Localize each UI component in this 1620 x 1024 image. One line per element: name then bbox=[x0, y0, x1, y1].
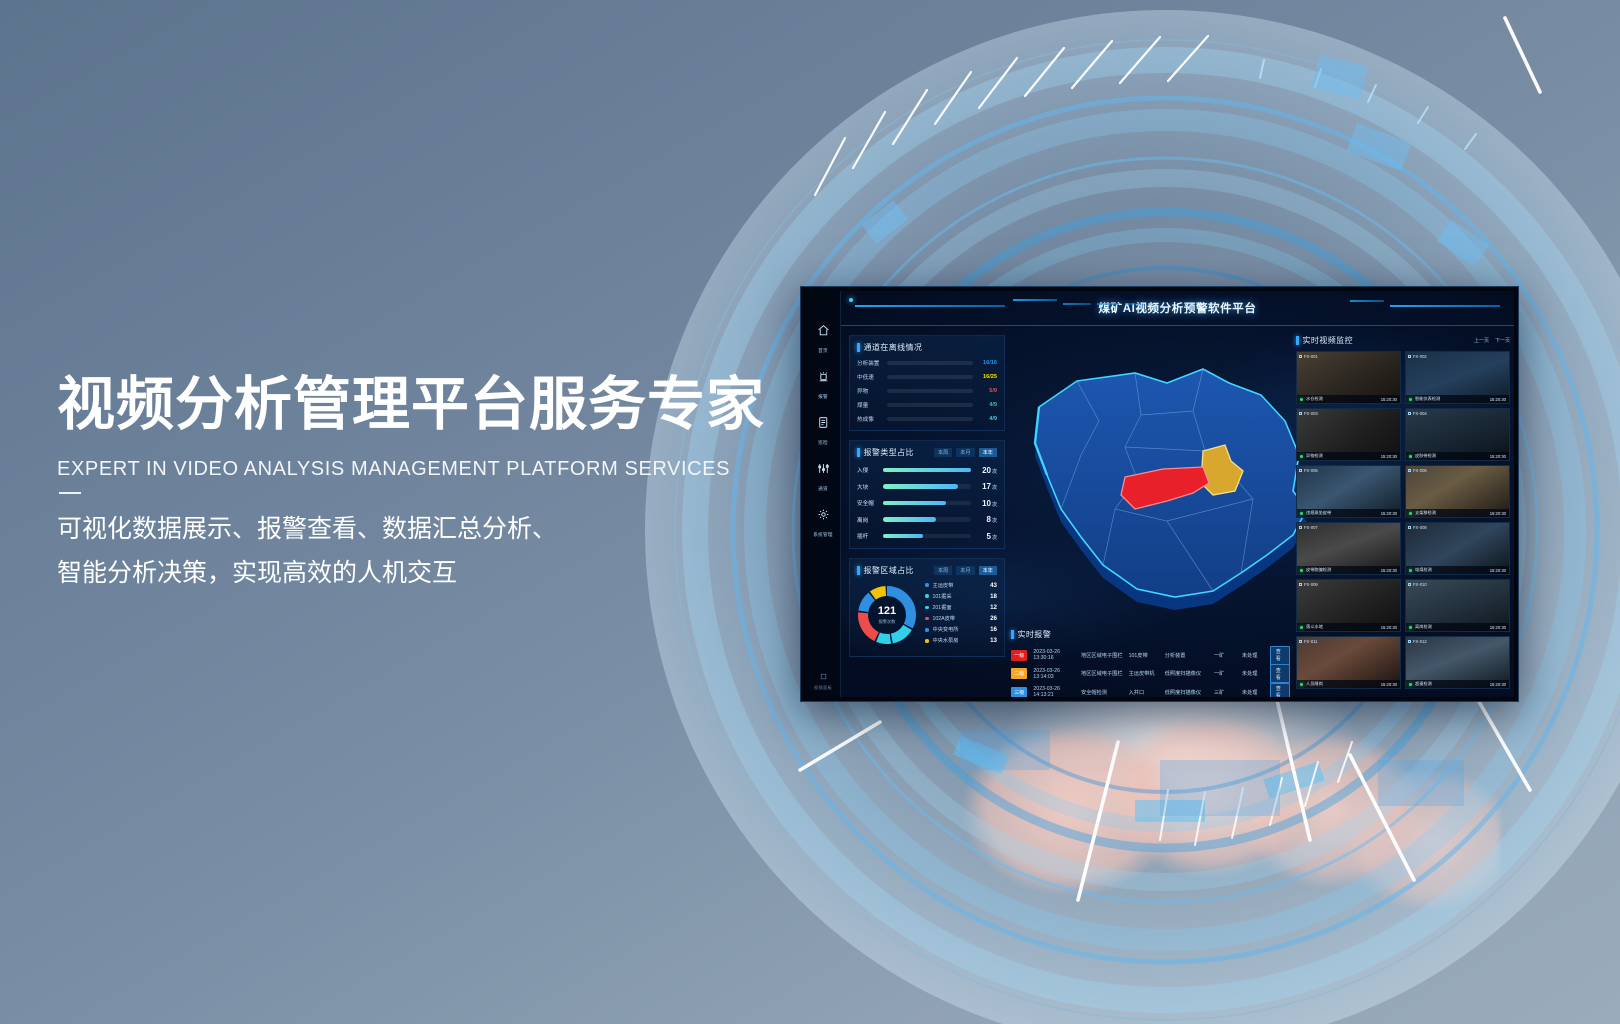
camera-icon bbox=[1408, 583, 1411, 586]
view-button[interactable]: 查看 bbox=[1270, 683, 1290, 697]
channel-bar-track bbox=[887, 417, 973, 422]
video-id: FX-008 bbox=[1408, 525, 1427, 530]
alarm-type-tabs[interactable]: 本周本月本年 bbox=[934, 448, 997, 457]
alarm-type-row: 大块 17次 bbox=[857, 482, 997, 491]
realtime-alarm-panel: 实时报警 一级 2023-03-26 13:30:16 地区区域电子围栏 101… bbox=[1011, 629, 1290, 691]
video-footer: 超速检测 15:20:30 bbox=[1406, 680, 1509, 688]
video-footer: 人员睡岗 15:20:30 bbox=[1297, 680, 1400, 688]
video-id: FX-007 bbox=[1299, 525, 1318, 530]
alarm-device: 分析装置 bbox=[1165, 652, 1214, 659]
alarm-type-track bbox=[883, 501, 971, 506]
channel-row: 热成像 4/9 bbox=[857, 415, 997, 423]
video-id: FX-012 bbox=[1408, 639, 1427, 644]
tab-本月[interactable]: 本月 bbox=[956, 566, 974, 575]
online-indicator bbox=[1409, 398, 1412, 401]
legend-dot bbox=[925, 583, 929, 587]
alarm-type-unit: 次 bbox=[992, 485, 997, 491]
header-line-left-4 bbox=[1097, 303, 1119, 305]
legend-label: 中央水泵房 bbox=[933, 637, 991, 644]
channel-bar-track bbox=[887, 375, 973, 380]
hero-line-2: 智能分析决策，实现高效的人机交互 bbox=[57, 551, 857, 596]
video-time: 15:20:30 bbox=[1490, 625, 1506, 630]
video-panel-title: 实时视频监控 bbox=[1303, 335, 1353, 346]
video-pagination: 上一页 下一页 bbox=[1474, 337, 1510, 344]
donut-caption: 报警次数 bbox=[879, 619, 896, 625]
title-accent-bar bbox=[857, 343, 860, 352]
legend-value: 12 bbox=[990, 604, 997, 611]
online-indicator bbox=[1409, 569, 1412, 572]
video-tile[interactable]: FX-009 落斗水堵 15:20:30 bbox=[1296, 579, 1401, 632]
online-indicator bbox=[1409, 683, 1412, 686]
video-id: FX-005 bbox=[1299, 468, 1318, 473]
hero-line-1: 可视化数据展示、报警查看、数据汇总分析、 bbox=[57, 507, 857, 552]
hero-subtitle: EXPERT IN VIDEO ANALYSIS MANAGEMENT PLAT… bbox=[57, 458, 857, 481]
alarm-type-track bbox=[883, 534, 971, 539]
video-time: 15:20:30 bbox=[1381, 625, 1397, 630]
video-id: FX-006 bbox=[1408, 468, 1427, 473]
alarm-type-row: 插杆 5次 bbox=[857, 532, 997, 541]
alarm-type-fill bbox=[883, 468, 971, 473]
legend-value: 16 bbox=[990, 626, 997, 633]
video-footer: 异物检测 15:20:30 bbox=[1297, 452, 1400, 460]
donut-total: 121 bbox=[878, 606, 896, 617]
tab-本年[interactable]: 本年 bbox=[979, 566, 997, 575]
inspection-icon bbox=[817, 416, 830, 429]
video-id: FX-010 bbox=[1408, 582, 1427, 587]
channel-row: 煤量 4/9 bbox=[857, 401, 997, 409]
video-monitor-panel: 实时视频监控 上一页 下一页 FX-001 水仓检测 15:20:30 FX-0… bbox=[1296, 335, 1510, 691]
channel-label: 分析装置 bbox=[857, 359, 887, 367]
video-tile[interactable]: FX-007 皮带跑偏检测 15:20:30 bbox=[1296, 522, 1401, 575]
alarm-time: 2023-03-26 14:13:21 bbox=[1033, 686, 1081, 697]
header-dot bbox=[849, 298, 853, 302]
alarm-type-row: 安全帽 10次 bbox=[857, 499, 997, 508]
video-footer: 落斗水堵 15:20:30 bbox=[1297, 623, 1400, 631]
sidebar-item-system[interactable]: 系统管理 bbox=[805, 501, 841, 547]
sidebar-item-alarm[interactable]: 报警 bbox=[805, 363, 841, 409]
gear-icon bbox=[817, 508, 830, 521]
realtime-alarm-title: 实时报警 bbox=[1018, 629, 1052, 640]
channel-value: 5/9 bbox=[973, 388, 997, 394]
dashboard-screen: 首页 报警 巡检 通道 系统管理 权限面板 煤矿AI视 bbox=[805, 291, 1514, 697]
channel-value: 4/9 bbox=[973, 416, 997, 422]
alarm-type-row: 离岗 8次 bbox=[857, 515, 997, 524]
alarm-type-title-row: 报警类型占比 本周本月本年 bbox=[857, 447, 997, 458]
camera-icon bbox=[1299, 640, 1302, 643]
alarm-type-track bbox=[883, 484, 971, 489]
realtime-alarm-rows: 一级 2023-03-26 13:30:16 地区区域电子围栏 101皮带 分析… bbox=[1011, 646, 1290, 697]
home-icon bbox=[817, 324, 830, 337]
alarm-type-card: 报警类型占比 本周本月本年 入侵 20次 大块 17次 安全帽 10次 离岗 8… bbox=[849, 440, 1005, 549]
video-tile[interactable]: FX-003 异物检测 15:20:30 bbox=[1296, 408, 1401, 461]
donut-center: 121 报警次数 bbox=[869, 597, 905, 633]
donut-wrapper: 121 报警次数 主运皮带 43 101掘采 18 201掘面 12 102A皮… bbox=[857, 582, 997, 649]
video-name: 水仓检测 bbox=[1306, 396, 1323, 402]
legend-row: 中央水泵房 13 bbox=[925, 637, 997, 644]
channel-label: 煤量 bbox=[857, 401, 887, 409]
prev-page-button[interactable]: 上一页 bbox=[1474, 337, 1489, 344]
legend-dot bbox=[925, 606, 929, 610]
video-name: 超速检测 bbox=[1415, 681, 1432, 687]
sidebar-label-home: 首页 bbox=[818, 348, 828, 353]
video-footer: 堆煤检测 15:20:30 bbox=[1406, 566, 1509, 574]
video-footer: 支架移检测 15:20:30 bbox=[1406, 509, 1509, 517]
alarm-type-track bbox=[883, 468, 971, 473]
legend-dot bbox=[925, 628, 929, 632]
alarm-type-fill bbox=[883, 534, 923, 539]
channel-bar-track bbox=[887, 361, 973, 366]
alarm-type: 地区区域电子围栏 bbox=[1081, 670, 1129, 677]
camera-icon bbox=[1299, 526, 1302, 529]
alarm-type-label: 安全帽 bbox=[857, 499, 883, 507]
video-tile[interactable]: FX-011 人员睡岗 15:20:30 bbox=[1296, 636, 1401, 689]
video-id: FX-001 bbox=[1299, 354, 1318, 359]
online-indicator bbox=[1300, 455, 1303, 458]
donut-legend: 主运皮带 43 101掘采 18 201掘面 12 102A皮带 26 中央变电… bbox=[917, 582, 997, 649]
online-indicator bbox=[1409, 512, 1412, 515]
channel-value: 16/16 bbox=[973, 360, 997, 366]
video-footer: 违规乘坐皮带 15:20:30 bbox=[1297, 509, 1400, 517]
legend-dot bbox=[925, 617, 929, 621]
channel-label: 中低速 bbox=[857, 373, 887, 381]
video-tile[interactable]: FX-002 智能仪表检测 15:20:30 bbox=[1405, 351, 1510, 404]
next-page-button[interactable]: 下一页 bbox=[1495, 337, 1510, 344]
alarm-type-label: 入侵 bbox=[857, 466, 883, 474]
alarm-area-title: 报警区域占比 bbox=[864, 565, 914, 576]
alarm-location: 101皮带 bbox=[1129, 652, 1165, 659]
alarm-type-value: 20次 bbox=[971, 466, 997, 475]
panel-icon bbox=[820, 673, 827, 680]
alarm-device: 低照度扫描像仪 bbox=[1165, 689, 1214, 696]
legend-label: 102A皮带 bbox=[933, 615, 991, 622]
sidebar-footer-label: 权限面板 bbox=[805, 685, 841, 691]
alarm-time: 2023-03-26 13:30:16 bbox=[1033, 649, 1081, 661]
video-footer: 离岗检测 15:20:30 bbox=[1406, 623, 1509, 631]
hero-title: 视频分析管理平台服务专家 bbox=[57, 372, 857, 439]
alarm-type-unit: 次 bbox=[992, 518, 997, 524]
sidebar-label-alarm: 报警 bbox=[818, 394, 828, 399]
channel-label: 热成像 bbox=[857, 415, 887, 423]
alarm-area-donut: 121 报警次数 bbox=[857, 585, 917, 645]
alarm-area-tabs[interactable]: 本周本月本年 bbox=[934, 566, 997, 575]
title-accent-bar bbox=[1296, 336, 1299, 345]
alarm-type-unit: 次 bbox=[992, 502, 997, 508]
alarm-type-row: 入侵 20次 bbox=[857, 466, 997, 475]
video-id: FX-011 bbox=[1299, 639, 1317, 644]
camera-icon bbox=[1299, 469, 1302, 472]
online-indicator bbox=[1300, 398, 1303, 401]
video-footer: 智能仪表检测 15:20:30 bbox=[1406, 395, 1509, 403]
header-line-left-5 bbox=[1125, 303, 1141, 305]
tab-本周[interactable]: 本周 bbox=[934, 566, 952, 575]
legend-label: 主运皮带 bbox=[933, 582, 991, 589]
alarm-type-label: 离岗 bbox=[857, 516, 883, 524]
legend-dot bbox=[925, 639, 929, 643]
alarm-mine: 一矿 bbox=[1214, 670, 1242, 677]
online-indicator bbox=[1409, 455, 1412, 458]
alarm-type-rows: 入侵 20次 大块 17次 安全帽 10次 离岗 8次 插杆 5次 bbox=[857, 466, 997, 541]
video-time: 15:20:30 bbox=[1381, 511, 1397, 516]
alarm-type-unit: 次 bbox=[992, 469, 997, 475]
video-time: 15:20:30 bbox=[1381, 682, 1397, 687]
video-time: 15:20:30 bbox=[1381, 397, 1397, 402]
sidebar-label-inspection: 巡检 bbox=[818, 440, 828, 445]
video-name: 异物检测 bbox=[1306, 453, 1323, 459]
video-tile[interactable]: FX-012 超速检测 15:20:30 bbox=[1405, 636, 1510, 689]
alarm-type-value: 5次 bbox=[971, 532, 997, 541]
legend-label: 201掘面 bbox=[933, 604, 991, 611]
channel-label: 异物 bbox=[857, 387, 887, 395]
video-id: FX-009 bbox=[1299, 582, 1318, 587]
status-badge: 三级 bbox=[1011, 687, 1027, 697]
alarm-type-title: 报警类型占比 bbox=[864, 447, 914, 458]
video-time: 15:20:30 bbox=[1381, 568, 1397, 573]
view-button[interactable]: 查看 bbox=[1270, 646, 1290, 665]
tab-本月[interactable]: 本月 bbox=[956, 448, 974, 457]
channel-icon bbox=[817, 462, 830, 475]
legend-value: 43 bbox=[990, 582, 997, 589]
channel-value: 4/9 bbox=[973, 402, 997, 408]
legend-row: 101掘采 18 bbox=[925, 593, 997, 600]
title-accent-bar bbox=[1011, 630, 1014, 639]
alarm-status: 未处理 bbox=[1242, 689, 1270, 696]
video-name: 堆煤检测 bbox=[1415, 567, 1432, 573]
video-tile[interactable]: FX-001 水仓检测 15:20:30 bbox=[1296, 351, 1401, 404]
channel-status-title: 通道在离线情况 bbox=[864, 342, 923, 353]
sidebar-footer[interactable]: 权限面板 bbox=[805, 667, 841, 691]
video-name: 落斗水堵 bbox=[1306, 624, 1323, 630]
video-name: 离岗检测 bbox=[1415, 624, 1432, 630]
alarm-type-fill bbox=[883, 501, 946, 506]
video-footer: 皮肤带检测 15:20:30 bbox=[1406, 452, 1509, 460]
title-accent-bar bbox=[857, 566, 860, 575]
video-name: 违规乘坐皮带 bbox=[1306, 510, 1331, 516]
online-indicator bbox=[1409, 626, 1412, 629]
alarm-location: 主运皮带机 bbox=[1129, 670, 1165, 677]
legend-label: 中央变电所 bbox=[933, 626, 991, 633]
alarm-type-value: 10次 bbox=[971, 499, 997, 508]
alarm-type: 安全帽检测 bbox=[1081, 689, 1129, 696]
legend-value: 13 bbox=[990, 637, 997, 644]
header-line-left bbox=[855, 305, 1005, 307]
alarm-location: 入井口 bbox=[1129, 689, 1165, 696]
video-grid: FX-001 水仓检测 15:20:30 FX-002 智能仪表检测 15:20… bbox=[1296, 351, 1510, 689]
legend-row: 201掘面 12 bbox=[925, 604, 997, 611]
video-time: 15:20:30 bbox=[1490, 511, 1506, 516]
video-name: 人员睡岗 bbox=[1306, 681, 1323, 687]
video-time: 15:20:30 bbox=[1490, 568, 1506, 573]
alarm-time: 2023-03-26 13:14:03 bbox=[1033, 668, 1081, 680]
table-row[interactable]: 二级 2023-03-26 13:14:03 地区区域电子围栏 主运皮带机 低照… bbox=[1011, 665, 1290, 684]
status-badge: 二级 bbox=[1011, 668, 1027, 679]
video-name: 皮肤带检测 bbox=[1415, 453, 1436, 459]
header-line-right bbox=[1390, 305, 1500, 307]
camera-icon bbox=[1299, 412, 1302, 415]
dashboard-sidebar: 首页 报警 巡检 通道 系统管理 权限面板 bbox=[805, 291, 841, 697]
header-line-right-2 bbox=[1350, 300, 1384, 302]
alarm-type-fill bbox=[883, 484, 958, 489]
alarm-device: 低照度扫描像仪 bbox=[1165, 670, 1214, 677]
channel-bar-track bbox=[887, 389, 973, 394]
alarm-status: 未处理 bbox=[1242, 652, 1270, 659]
alarm-type-unit: 次 bbox=[992, 535, 997, 541]
alarm-icon bbox=[817, 370, 830, 383]
video-time: 15:20:30 bbox=[1490, 397, 1506, 402]
legend-value: 26 bbox=[990, 615, 997, 622]
online-indicator bbox=[1300, 683, 1303, 686]
channel-status-title-row: 通道在离线情况 bbox=[857, 342, 997, 353]
view-button[interactable]: 查看 bbox=[1270, 664, 1290, 683]
camera-icon bbox=[1299, 355, 1302, 358]
online-indicator bbox=[1300, 569, 1303, 572]
table-row[interactable]: 一级 2023-03-26 13:30:16 地区区域电子围栏 101皮带 分析… bbox=[1011, 646, 1290, 665]
dashboard-monitor: 首页 报警 巡检 通道 系统管理 权限面板 煤矿AI视 bbox=[800, 286, 1519, 702]
alarm-status: 未处理 bbox=[1242, 670, 1270, 677]
video-tile[interactable]: FX-008 堆煤检测 15:20:30 bbox=[1405, 522, 1510, 575]
camera-icon bbox=[1408, 412, 1411, 415]
header-underline bbox=[841, 313, 1514, 326]
sidebar-item-inspection[interactable]: 巡检 bbox=[805, 409, 841, 455]
video-footer: 皮带跑偏检测 15:20:30 bbox=[1297, 566, 1400, 574]
alarm-area-title-row: 报警区域占比 本周本月本年 bbox=[857, 565, 997, 576]
legend-row: 主运皮带 43 bbox=[925, 582, 997, 589]
sidebar-label-channel: 通道 bbox=[818, 486, 828, 491]
hero-text-block: 视频分析管理平台服务专家 EXPERT IN VIDEO ANALYSIS MA… bbox=[57, 372, 857, 596]
camera-icon bbox=[1408, 526, 1411, 529]
video-id: FX-004 bbox=[1408, 411, 1427, 416]
sidebar-nav: 首页 报警 巡检 通道 系统管理 bbox=[805, 317, 841, 547]
video-time: 15:20:30 bbox=[1381, 454, 1397, 459]
tab-本周[interactable]: 本周 bbox=[934, 448, 952, 457]
sidebar-label-system: 系统管理 bbox=[813, 532, 833, 537]
alarm-type-value: 8次 bbox=[971, 515, 997, 524]
video-tile[interactable]: FX-010 离岗检测 15:20:30 bbox=[1405, 579, 1510, 632]
camera-icon bbox=[1408, 640, 1411, 643]
alarm-mine: 一矿 bbox=[1214, 652, 1242, 659]
legend-row: 102A皮带 26 bbox=[925, 615, 997, 622]
alarm-mine: 三矿 bbox=[1214, 689, 1242, 696]
video-time: 15:20:30 bbox=[1490, 682, 1506, 687]
dashboard-header: 煤矿AI视频分析预警软件平台 bbox=[841, 291, 1514, 327]
realtime-alarm-title-row: 实时报警 bbox=[1011, 629, 1290, 640]
video-tile[interactable]: FX-004 皮肤带检测 15:20:30 bbox=[1405, 408, 1510, 461]
alarm-type-track bbox=[883, 517, 971, 522]
left-panel-column: 通道在离线情况 分析装置 16/16 中低速 16/25 异物 5/9 煤量 4… bbox=[849, 335, 1005, 689]
channel-row: 中低速 16/25 bbox=[857, 373, 997, 381]
sidebar-item-home[interactable]: 首页 bbox=[805, 317, 841, 363]
legend-dot bbox=[925, 594, 929, 598]
legend-value: 18 bbox=[990, 593, 997, 600]
camera-icon bbox=[1408, 355, 1411, 358]
online-indicator bbox=[1300, 626, 1303, 629]
header-line-left-2 bbox=[1013, 299, 1057, 301]
alarm-type-value: 17次 bbox=[971, 482, 997, 491]
alarm-area-card: 报警区域占比 本周本月本年 121 报警次数 主运皮带 43 101掘采 18 bbox=[849, 558, 1005, 657]
alarm-type-fill bbox=[883, 517, 936, 522]
divider bbox=[59, 492, 81, 494]
legend-row: 中央变电所 16 bbox=[925, 626, 997, 633]
status-badge: 一级 bbox=[1011, 650, 1027, 661]
video-footer: 水仓检测 15:20:30 bbox=[1297, 395, 1400, 403]
alarm-type-label: 插杆 bbox=[857, 532, 883, 540]
title-accent-bar bbox=[857, 448, 860, 457]
channel-row: 分析装置 16/16 bbox=[857, 359, 997, 367]
online-indicator bbox=[1300, 512, 1303, 515]
sidebar-item-channel[interactable]: 通道 bbox=[805, 455, 841, 501]
channel-status-card: 通道在离线情况 分析装置 16/16 中低速 16/25 异物 5/9 煤量 4… bbox=[849, 335, 1005, 431]
table-row[interactable]: 三级 2023-03-26 14:13:21 安全帽检测 入井口 低照度扫描像仪… bbox=[1011, 683, 1290, 697]
alarm-type-label: 大块 bbox=[857, 483, 883, 491]
video-name: 支架移检测 bbox=[1415, 510, 1436, 516]
camera-icon bbox=[1299, 583, 1302, 586]
video-tile[interactable]: FX-006 支架移检测 15:20:30 bbox=[1405, 465, 1510, 518]
video-tile[interactable]: FX-005 违规乘坐皮带 15:20:30 bbox=[1296, 465, 1401, 518]
alarm-type: 地区区域电子围栏 bbox=[1081, 652, 1129, 659]
channel-bar-track bbox=[887, 403, 973, 408]
video-name: 皮带跑偏检测 bbox=[1306, 567, 1331, 573]
channel-row: 异物 5/9 bbox=[857, 387, 997, 395]
header-line-left-3 bbox=[1063, 303, 1091, 305]
video-time: 15:20:30 bbox=[1490, 454, 1506, 459]
tab-本年[interactable]: 本年 bbox=[979, 448, 997, 457]
camera-icon bbox=[1408, 469, 1411, 472]
video-id: FX-002 bbox=[1408, 354, 1427, 359]
video-id: FX-003 bbox=[1299, 411, 1318, 416]
video-name: 智能仪表检测 bbox=[1415, 396, 1440, 402]
channel-status-rows: 分析装置 16/16 中低速 16/25 异物 5/9 煤量 4/9 热成像 4… bbox=[857, 359, 997, 423]
channel-value: 16/25 bbox=[973, 374, 997, 380]
video-panel-header: 实时视频监控 上一页 下一页 bbox=[1296, 335, 1510, 346]
legend-label: 101掘采 bbox=[933, 593, 991, 600]
